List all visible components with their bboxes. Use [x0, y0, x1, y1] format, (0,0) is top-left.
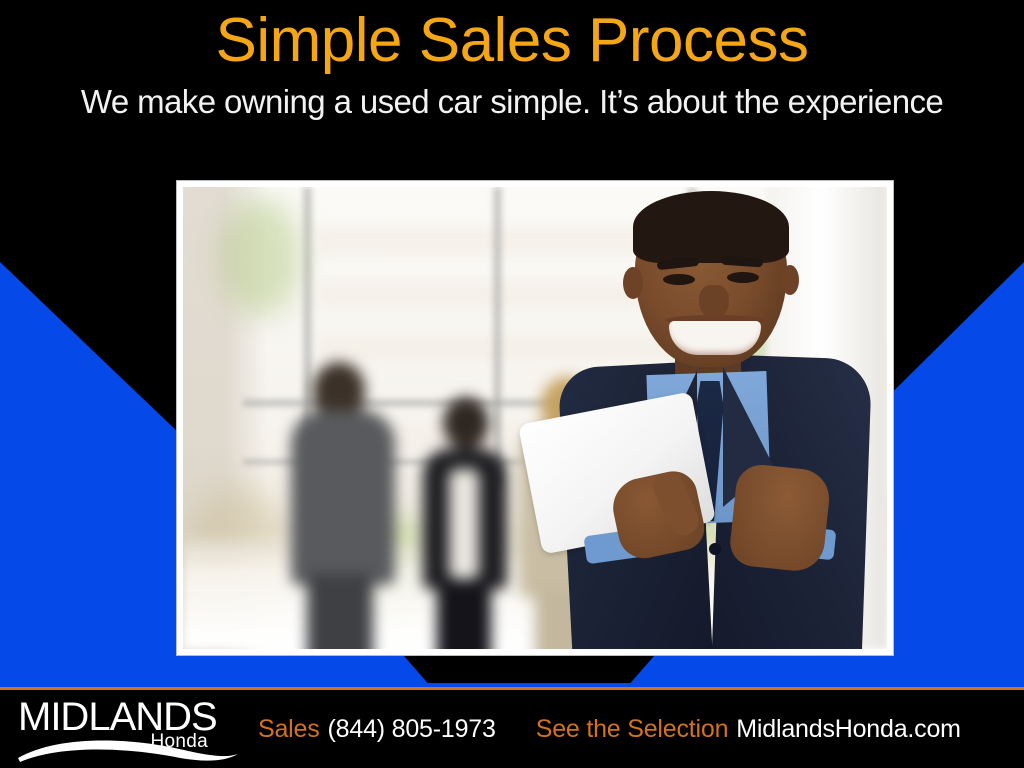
hair: [633, 191, 789, 263]
selection-label: See the Selection: [536, 715, 729, 744]
blue-left-panel: [0, 262, 180, 688]
ear-right: [781, 265, 799, 295]
background-person: [283, 362, 403, 649]
ear-left: [623, 267, 643, 299]
website-url[interactable]: MidlandsHonda.com: [736, 715, 961, 744]
eye-right: [727, 272, 759, 283]
hand-right: [728, 462, 832, 573]
hero-photo: [183, 187, 887, 649]
header: Simple Sales Process We make owning a us…: [0, 0, 1024, 150]
dealer-logo[interactable]: MIDLANDS Honda: [14, 694, 240, 766]
photo-signature: [769, 607, 821, 621]
page-subtitle: We make owning a used car simple. It’s a…: [0, 76, 1024, 122]
slide-canvas: Simple Sales Process We make owning a us…: [0, 0, 1024, 768]
sales-phone[interactable]: (844) 805-1973: [328, 715, 496, 744]
footer-contact-info: Sales (844) 805-1973 See the Selection M…: [258, 690, 1018, 768]
photo-frame: [177, 181, 893, 655]
nose: [699, 285, 729, 319]
background-person: [413, 397, 518, 649]
background-foliage: [221, 197, 301, 317]
sales-label: Sales: [258, 715, 320, 744]
logo-swoosh-icon: [14, 728, 240, 764]
foreground-salesman: [557, 187, 887, 649]
smile: [669, 321, 761, 355]
page-title: Simple Sales Process: [0, 0, 1024, 76]
jacket-button: [709, 543, 721, 555]
eye-left: [663, 274, 695, 285]
